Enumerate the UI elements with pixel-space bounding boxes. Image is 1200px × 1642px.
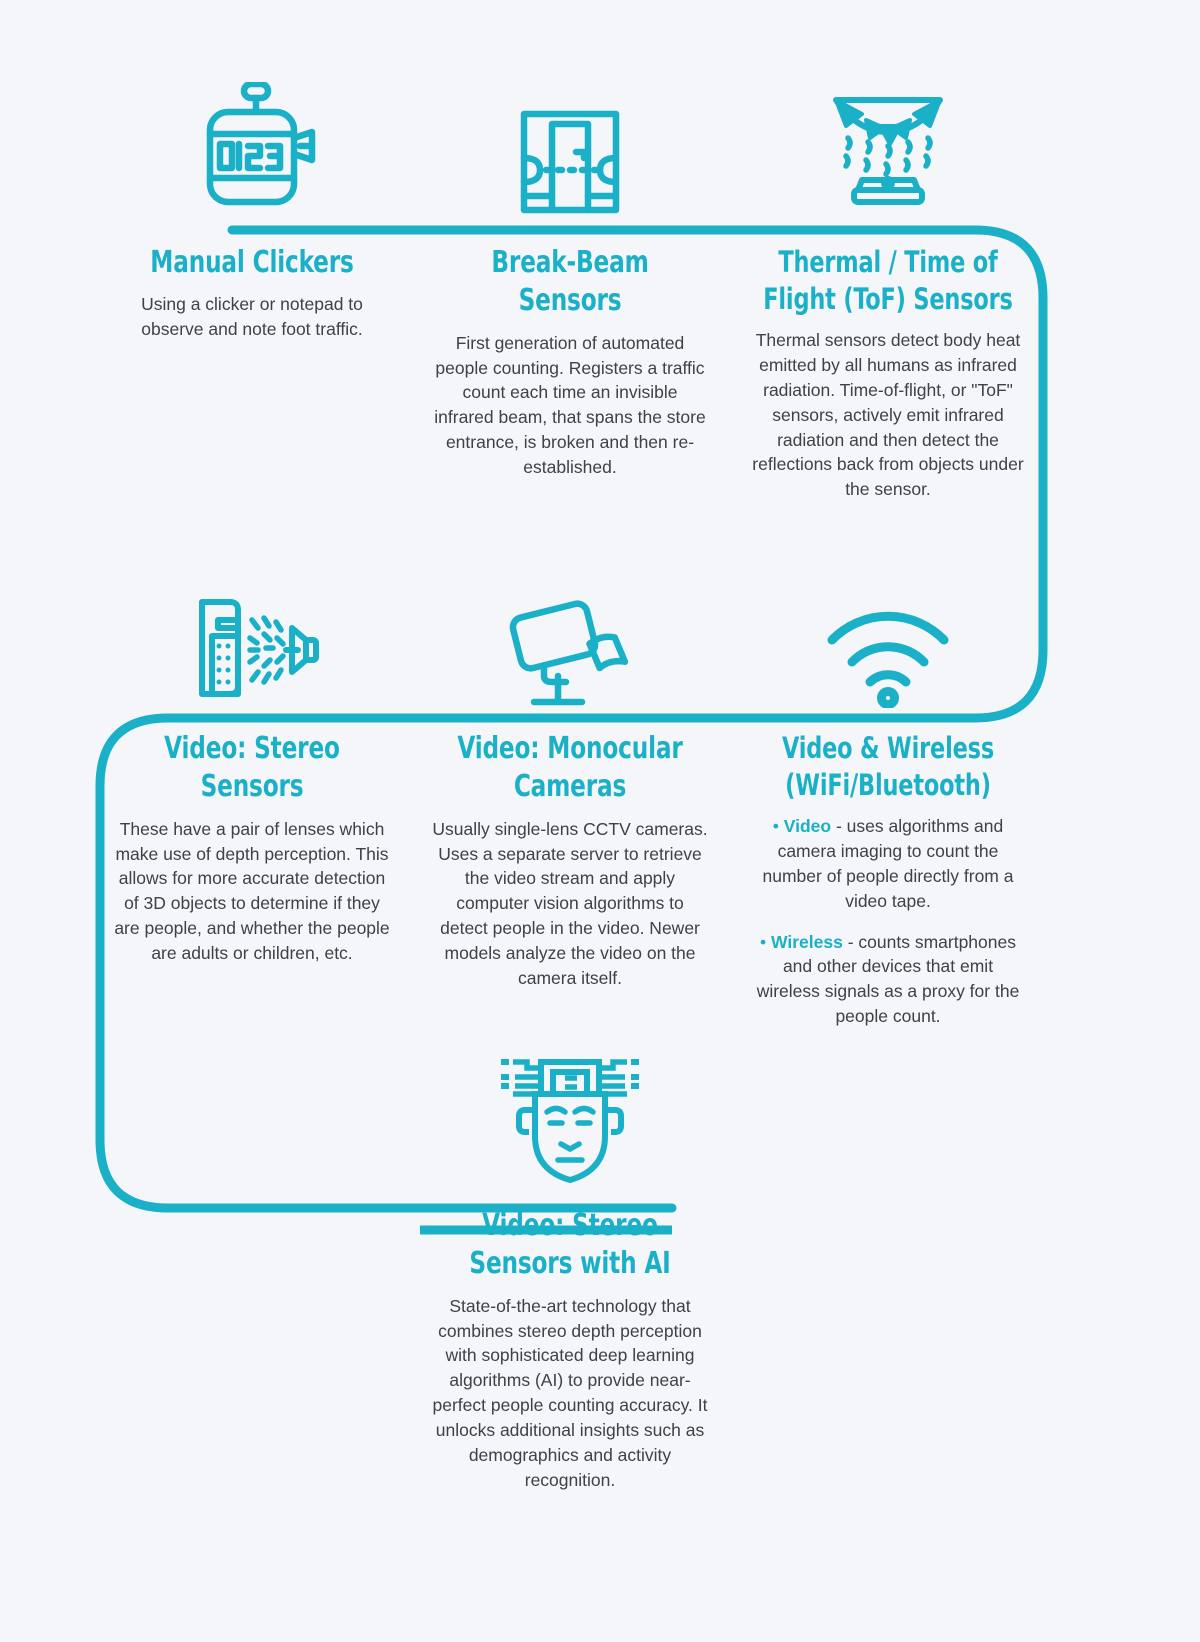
card-title: Video: Stereo Sensors with AI — [441, 1207, 699, 1284]
icon-container — [420, 578, 720, 708]
card-body: • Video - uses algorithms and camera ima… — [738, 814, 1038, 1029]
card-paragraph: Using a clicker or notepad to observe an… — [114, 292, 390, 342]
card-manual-clickers: Manual Clickers Using a clicker or notep… — [102, 72, 402, 342]
card-paragraph: Thermal sensors detect body heat emitted… — [750, 328, 1026, 502]
card-title: Video & Wireless (WiFi/Bluetooth) — [759, 730, 1017, 804]
infographic-canvas: Manual Clickers Using a clicker or notep… — [0, 0, 1200, 1642]
card-video-monocular-cameras: Video: Monocular Cameras Usually single-… — [420, 578, 720, 991]
card-title: Manual Clickers — [123, 244, 381, 282]
icon-container — [102, 578, 402, 708]
card-video-stereo-sensors: Video: Stereo Sensors These have a pair … — [102, 578, 402, 966]
card-body: Using a clicker or notepad to observe an… — [102, 292, 402, 342]
ceiling-thermal-sensor-icon — [818, 82, 958, 222]
card-title: Break-Beam Sensors — [441, 244, 699, 321]
bullet-keyword: Wireless — [771, 932, 843, 952]
card-body: First generation of automated people cou… — [420, 331, 720, 480]
card-paragraph: These have a pair of lenses which make u… — [114, 817, 390, 966]
icon-container — [738, 72, 1038, 222]
card-paragraph: First generation of automated people cou… — [432, 331, 708, 480]
card-paragraph: Usually single-lens CCTV cameras. Uses a… — [432, 817, 708, 991]
bullet-item: • Wireless - counts smartphones and othe… — [750, 930, 1026, 1029]
bullet-dot-icon: • — [773, 816, 784, 836]
icon-container — [102, 72, 402, 222]
bullet-dot-icon: • — [760, 932, 771, 952]
card-break-beam-sensors: Break-Beam Sensors First generation of a… — [420, 72, 720, 480]
ai-head-circuit-icon — [495, 1050, 645, 1185]
card-title: Thermal / Time of Flight (ToF) Sensors — [759, 244, 1017, 318]
card-video-wireless: Video & Wireless (WiFi/Bluetooth) • Vide… — [738, 578, 1038, 1029]
bullet-keyword: Video — [784, 816, 831, 836]
tally-counter-clicker-icon — [182, 82, 322, 222]
bullet-item: • Video - uses algorithms and camera ima… — [750, 814, 1026, 913]
icon-container — [420, 1055, 720, 1185]
card-video-stereo-ai: Video: Stereo Sensors with AI State-of-t… — [420, 1055, 720, 1493]
card-body: Usually single-lens CCTV cameras. Uses a… — [420, 817, 720, 991]
card-title: Video: Stereo Sensors — [123, 730, 381, 807]
card-thermal-tof-sensors: Thermal / Time of Flight (ToF) Sensors T… — [738, 72, 1038, 502]
wifi-signal-icon — [818, 598, 958, 708]
stereo-depth-sensor-icon — [182, 588, 322, 708]
card-paragraph: State-of-the-art technology that combine… — [432, 1294, 708, 1493]
doorway-beam-sensor-icon — [500, 82, 640, 222]
card-title: Video: Monocular Cameras — [441, 730, 699, 807]
cctv-camera-icon — [500, 588, 640, 708]
icon-container — [738, 578, 1038, 708]
card-body: These have a pair of lenses which make u… — [102, 817, 402, 966]
card-body: State-of-the-art technology that combine… — [420, 1294, 720, 1493]
icon-container — [420, 72, 720, 222]
card-body: Thermal sensors detect body heat emitted… — [738, 328, 1038, 502]
